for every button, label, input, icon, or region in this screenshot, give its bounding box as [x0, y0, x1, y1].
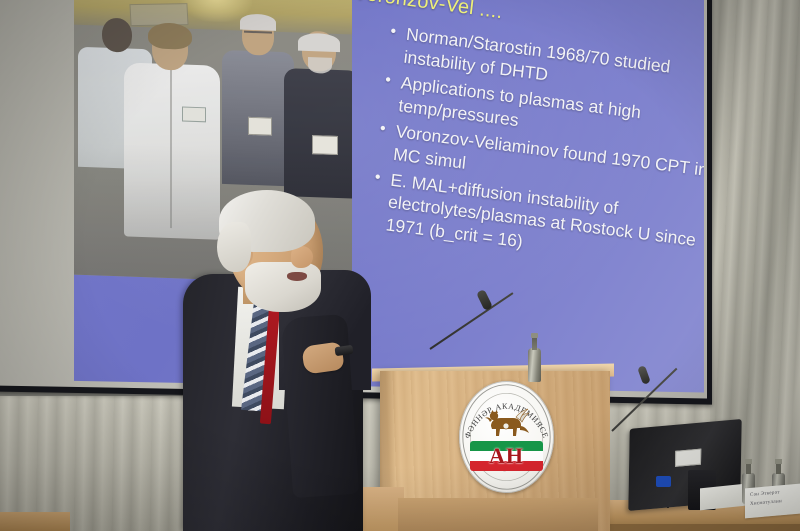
- name-card-line-1: Сән Эткерәт: [750, 489, 800, 498]
- projected-slide: ...... (PPT Norman/Starostin) MonteCarlo…: [74, 0, 704, 392]
- podium-bottle-cap: [531, 333, 538, 338]
- head-table-edge: [596, 524, 800, 531]
- speaker-arm: [281, 314, 359, 498]
- table-bottle-1-cap: [745, 459, 752, 464]
- left-table: [0, 512, 70, 531]
- speaker-beard: [245, 262, 321, 312]
- presentation-photo-scene: ...... (PPT Norman/Starostin) MonteCarlo…: [0, 0, 800, 531]
- speaker-mouth: [287, 272, 307, 281]
- podium-water-bottle: [527, 336, 542, 382]
- vga-connector-icon: [656, 476, 671, 487]
- table-bottle-2-cap: [775, 459, 782, 464]
- emblem-an-text: АН: [470, 441, 543, 471]
- lectern-base: [398, 498, 598, 531]
- monitor-sticker: [675, 449, 701, 467]
- name-card-line-2: Хисмәтуллин: [750, 498, 800, 507]
- winged-snow-leopard-icon: [483, 404, 531, 438]
- podium-bottle-body: [528, 348, 541, 382]
- table-name-card: Сән Эткерәт Хисмәтуллин: [745, 484, 800, 519]
- academy-emblem: ФӘННӘР АКАДЕМИЯСЕ ТАТАРСТАН: [459, 381, 554, 493]
- speaker-hair-side: [217, 222, 251, 272]
- emblem-tricolor-bar: АН: [470, 441, 543, 471]
- slide-bullet-list: • Norman/Starostin 1968/70 studied insta…: [368, 21, 704, 279]
- podium-bottle-neck: [532, 336, 537, 350]
- speaker-person: [183, 196, 383, 531]
